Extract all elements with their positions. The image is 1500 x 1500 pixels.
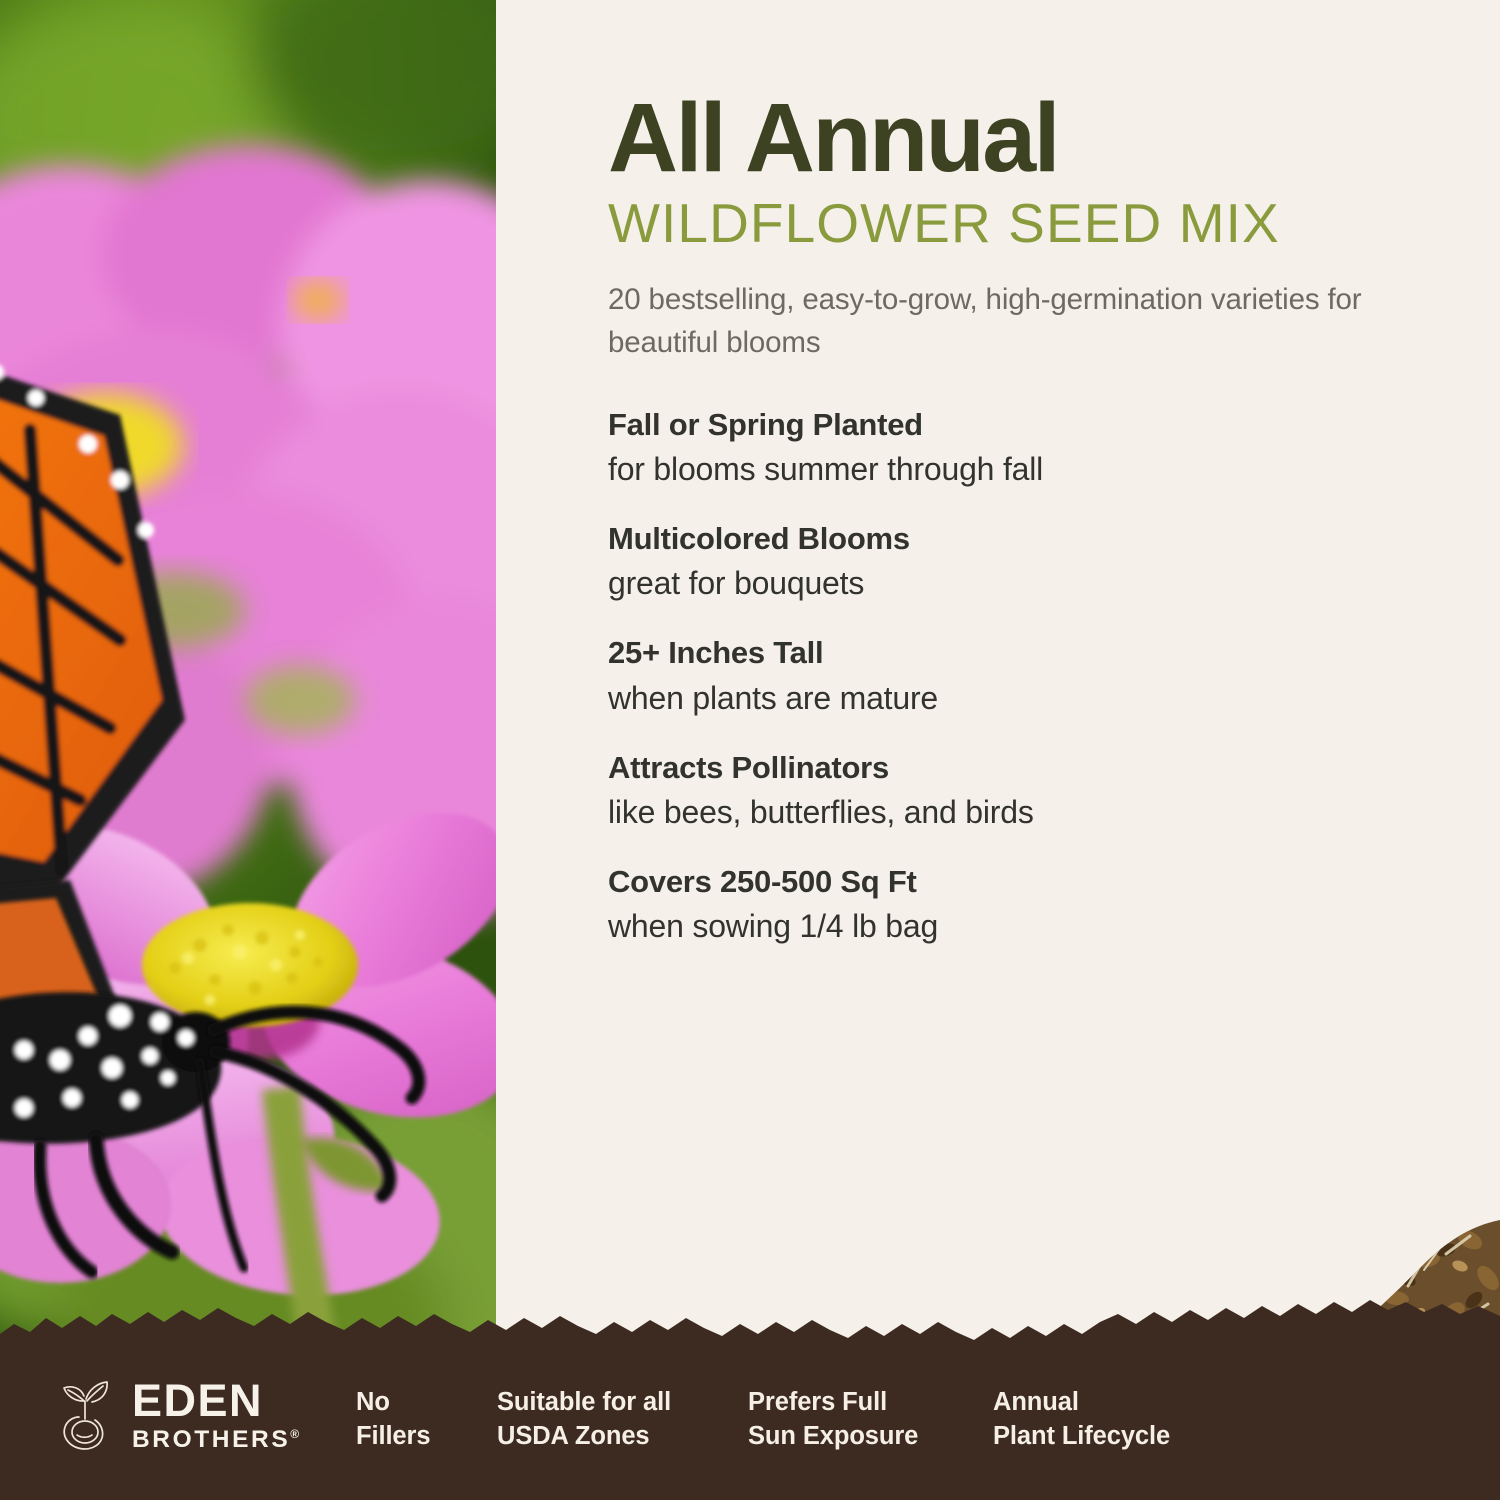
list-item: 25+ Inches Tall when plants are mature	[608, 633, 1438, 719]
status-badge: Suitable for all USDA Zones	[497, 1386, 748, 1454]
feature-subtitle: when sowing 1/4 lb bag	[608, 905, 1438, 948]
badge-line-1: Suitable for all	[497, 1386, 748, 1420]
page-subtitle: WILDFLOWER SEED MIX	[608, 194, 1408, 253]
badge-line-2: Plant Lifecycle	[993, 1420, 1253, 1454]
logo-brothers-text: BROTHERS®	[132, 1428, 299, 1453]
page-title: All Annual	[608, 88, 1408, 188]
eden-brothers-logo[interactable]: EDEN BROTHERS®	[56, 1378, 299, 1453]
infographic-root: All Annual WILDFLOWER SEED MIX 20 bestse…	[0, 0, 1500, 1500]
feature-subtitle: like bees, butterflies, and birds	[608, 791, 1438, 834]
list-item: Multicolored Blooms great for bouquets	[608, 519, 1438, 605]
feature-title: 25+ Inches Tall	[608, 633, 1438, 673]
list-item: Attracts Pollinators like bees, butterfl…	[608, 748, 1438, 834]
status-badge: Annual Plant Lifecycle	[993, 1386, 1253, 1454]
page-description: 20 bestselling, easy-to-grow, high-germi…	[608, 279, 1398, 364]
photo-illustration	[0, 0, 496, 1360]
badge-line-1: Annual	[993, 1386, 1253, 1420]
registered-trademark-icon: ®	[290, 1427, 299, 1441]
footer-badges: No Fillers Suitable for all USDA Zones P…	[356, 1386, 1253, 1454]
content-panel: All Annual WILDFLOWER SEED MIX 20 bestse…	[496, 0, 1500, 1340]
feature-title: Covers 250-500 Sq Ft	[608, 862, 1438, 902]
feature-subtitle: great for bouquets	[608, 562, 1438, 605]
butterfly-flower-photo	[0, 0, 496, 1360]
badge-line-2: Fillers	[356, 1420, 497, 1454]
feature-title: Fall or Spring Planted	[608, 405, 1438, 445]
footer-bar: EDEN BROTHERS® No Fillers Suitable for a…	[0, 1300, 1500, 1500]
feature-list: Fall or Spring Planted for blooms summer…	[608, 405, 1438, 948]
badge-line-1: Prefers Full	[748, 1386, 993, 1420]
sprout-seedling-icon	[56, 1379, 118, 1451]
feature-subtitle: for blooms summer through fall	[608, 448, 1438, 491]
logo-eden-text: EDEN	[132, 1378, 299, 1423]
badge-line-2: Sun Exposure	[748, 1420, 993, 1454]
list-item: Covers 250-500 Sq Ft when sowing 1/4 lb …	[608, 862, 1438, 948]
feature-subtitle: when plants are mature	[608, 677, 1438, 720]
badge-line-2: USDA Zones	[497, 1420, 748, 1454]
logo-wordmark: EDEN BROTHERS®	[132, 1378, 299, 1453]
list-item: Fall or Spring Planted for blooms summer…	[608, 405, 1438, 491]
footer-content: EDEN BROTHERS® No Fillers Suitable for a…	[0, 1300, 1500, 1500]
status-badge: Prefers Full Sun Exposure	[748, 1386, 993, 1454]
status-badge: No Fillers	[356, 1386, 497, 1454]
feature-title: Attracts Pollinators	[608, 748, 1438, 788]
feature-title: Multicolored Blooms	[608, 519, 1438, 559]
headline-block: All Annual WILDFLOWER SEED MIX 20 bestse…	[608, 88, 1408, 364]
badge-line-1: No	[356, 1386, 497, 1420]
